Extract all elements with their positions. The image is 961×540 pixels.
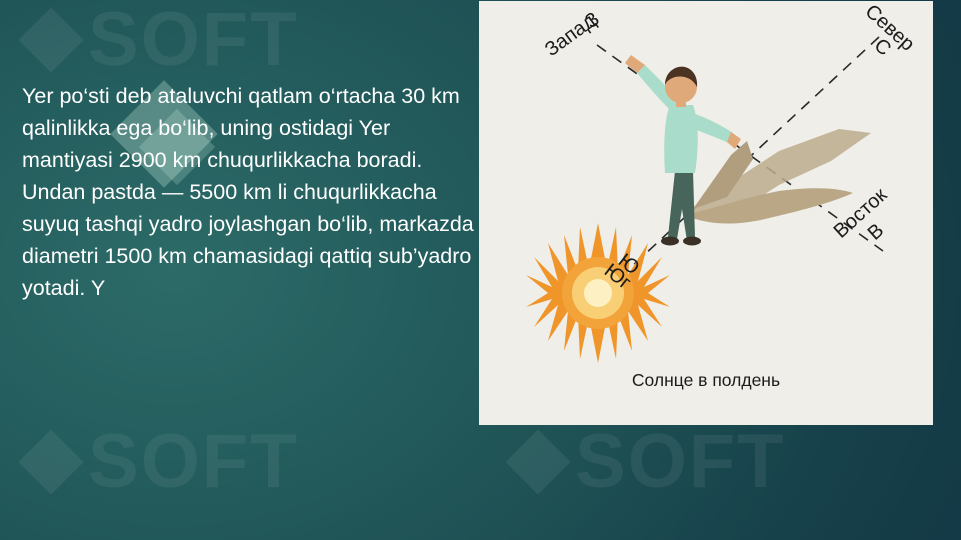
illustration-caption: Солнце в полдень — [479, 370, 933, 391]
watermark-top-left: SOFT — [28, 0, 299, 83]
diamond-icon — [18, 7, 83, 72]
diamond-icon — [18, 429, 83, 494]
watermark-bottom-right: SOFT — [515, 418, 786, 505]
slide-canvas: SOFT SOFT SOFT SOFT Yer po‘sti deb atalu… — [0, 0, 961, 540]
illustration-compass-noon: З Запад С Север В Восток Ю Юг Солнце в п… — [479, 1, 933, 425]
watermark-bottom-left: SOFT — [28, 418, 299, 505]
watermark-text: SOFT — [88, 418, 299, 505]
watermark-text: SOFT — [88, 0, 299, 83]
slide-body-text: Yer po‘sti deb ataluvchi qatlam o‘rtacha… — [22, 80, 474, 304]
diamond-icon — [505, 429, 570, 494]
watermark-text: SOFT — [575, 418, 786, 505]
